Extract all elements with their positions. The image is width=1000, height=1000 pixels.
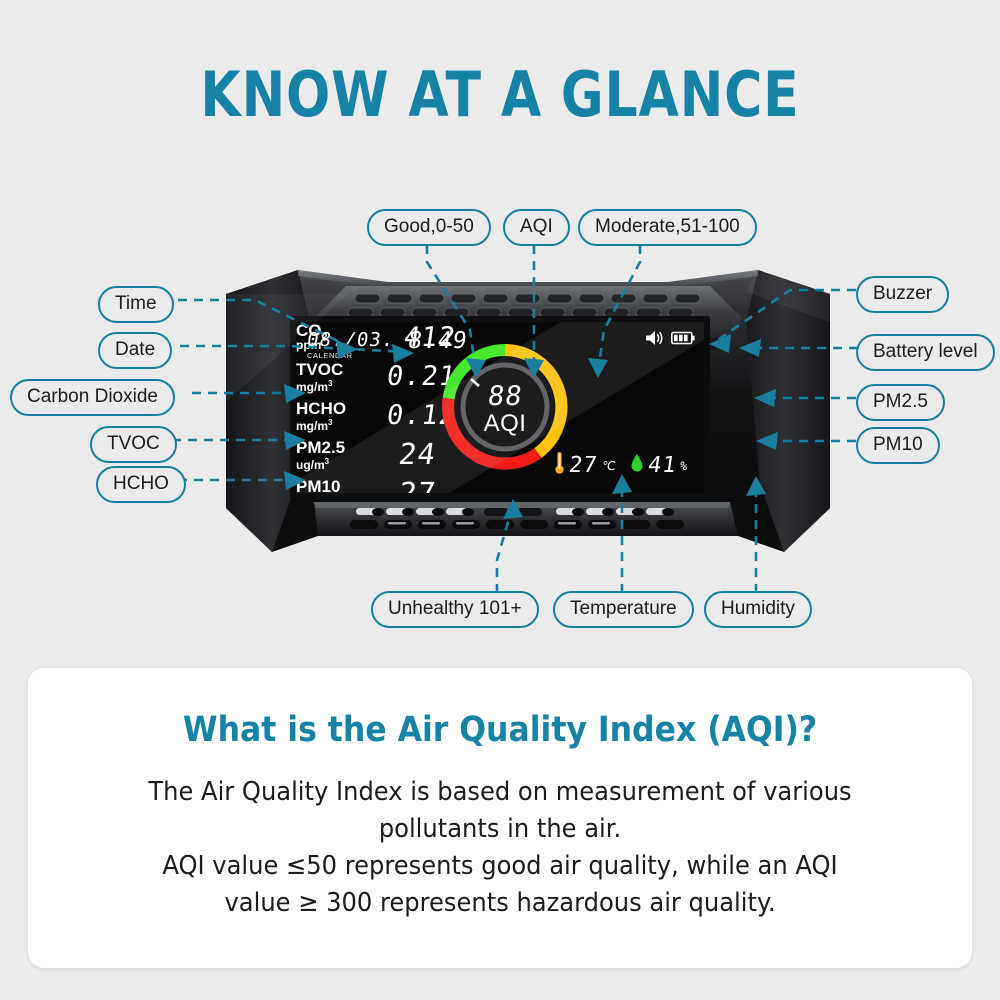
callout-tvoc[interactable]: TVOC	[90, 426, 177, 463]
callout-aqi[interactable]: AQI	[503, 209, 570, 246]
callout-time[interactable]: Time	[98, 286, 174, 323]
callout-date[interactable]: Date	[98, 332, 172, 369]
info-card-body: The Air Quality Index is based on measur…	[114, 774, 886, 922]
callout-pm10[interactable]: PM10	[856, 427, 940, 464]
callout-humidity[interactable]: Humidity	[704, 591, 812, 628]
info-card-line-4: value ≥ 300 represents hazardous air qua…	[114, 885, 886, 922]
callout-buzzer[interactable]: Buzzer	[856, 276, 949, 313]
callout-pm25[interactable]: PM2.5	[856, 384, 945, 421]
infographic-page: KNOW AT A GLANCE	[0, 0, 1000, 1000]
callout-good-range[interactable]: Good,0-50	[367, 209, 491, 246]
info-card-title: What is the Air Quality Index (AQI)?	[75, 710, 925, 750]
callout-temperature[interactable]: Temperature	[553, 591, 694, 628]
aqi-info-card: What is the Air Quality Index (AQI)? The…	[28, 668, 972, 968]
info-card-line-2: pollutants in the air.	[114, 811, 886, 848]
callout-unhealthy-range[interactable]: Unhealthy 101+	[371, 591, 539, 628]
callout-battery-level[interactable]: Battery level	[856, 334, 995, 371]
info-card-line-3: AQI value ≤50 represents good air qualit…	[114, 848, 886, 885]
info-card-line-1: The Air Quality Index is based on measur…	[114, 774, 886, 811]
callout-hcho[interactable]: HCHO	[96, 466, 186, 503]
callout-carbon-dioxide[interactable]: Carbon Dioxide	[10, 379, 175, 416]
callout-moderate-range[interactable]: Moderate,51-100	[578, 209, 757, 246]
